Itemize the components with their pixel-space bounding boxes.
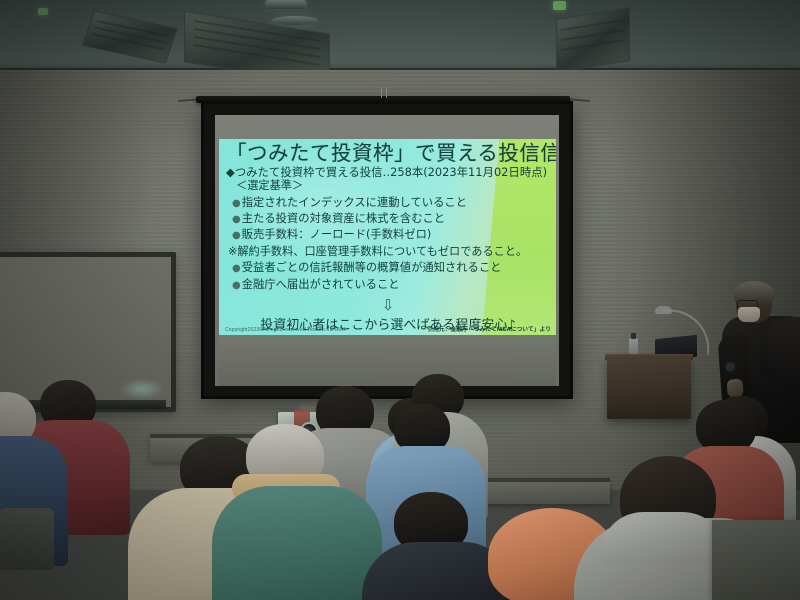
screen-unlit-area — [219, 335, 556, 386]
citation-source: 引用元：金融庁「つみたてNISAについて」より — [427, 324, 551, 333]
criteria-text: 主たる投資の対象資産に株式を含むこと — [242, 212, 445, 225]
bullet-icon: ● — [232, 263, 241, 274]
recessed-light — [272, 16, 318, 25]
lecture-room-photo: 「つみたて投資枠」で買える投信信託 ◆つみたて投資枠で買える投信‥258本(20… — [0, 0, 800, 600]
gooseneck-lamp-head — [655, 306, 672, 314]
hood — [600, 512, 726, 564]
bullet-icon: ● — [232, 198, 241, 209]
slide-lead-line: ◆つみたて投資枠で買える投信‥258本(2023年11月02日時点) — [226, 166, 550, 179]
screen-surface: 「つみたて投資枠」で買える投信信託 ◆つみたて投資枠で買える投信‥258本(20… — [215, 115, 559, 386]
criteria-text: 販売手数料：ノーロード(手数料ゼロ) — [242, 228, 432, 241]
desk-row — [712, 520, 800, 600]
ceiling-speaker — [265, 0, 307, 9]
slide-title: 「つみたて投資枠」で買える投信信託 — [226, 142, 550, 165]
lectern — [607, 357, 691, 419]
indicator-light — [553, 1, 566, 10]
slide-note: ※解約手数料、口座管理手数料についてもゼロであること。 — [228, 244, 550, 260]
down-arrow-icon: ⇩ — [226, 298, 550, 313]
list-item: ●受益者ごとの信託報酬等の概算値が通知されること — [232, 260, 550, 276]
slide-footer: Copyright2023©All rights reserved Tetsur… — [225, 324, 551, 333]
slide-subheading: ＜選定基準＞ — [236, 179, 550, 194]
criteria-text: 受益者ごとの信託報酬等の概算値が通知されること — [242, 261, 502, 274]
criteria-text: 金融庁へ届出がされていること — [242, 278, 400, 291]
whiteboard-glare — [119, 379, 165, 399]
criteria-text: 指定されたインデックスに連動していること — [242, 196, 467, 209]
projection-screen: 「つみたて投資枠」で買える投信信託 ◆つみたて投資枠で買える投信‥258本(20… — [201, 101, 573, 399]
list-item: ●主たる投資の対象資産に株式を含むこと — [232, 211, 550, 227]
bullet-icon: ● — [232, 230, 241, 241]
bullet-icon: ● — [232, 214, 241, 225]
copyright-notice: Copyright2023©All rights reserved Tetsur… — [225, 327, 345, 333]
torso — [212, 486, 382, 600]
projected-slide: 「つみたて投資枠」で買える投信信託 ◆つみたて投資枠で買える投信‥258本(20… — [219, 139, 556, 335]
list-item: ●指定されたインデックスに連動していること — [232, 195, 550, 211]
chair — [0, 508, 54, 570]
list-item: ●販売手数料：ノーロード(手数料ゼロ) — [232, 227, 550, 243]
criteria-list: ●指定されたインデックスに連動していること ●主たる投資の対象資産に株式を含むこ… — [232, 195, 550, 244]
indicator-light — [38, 8, 48, 15]
bullet-icon: ● — [232, 280, 241, 291]
criteria-list-continued: ●受益者ごとの信託報酬等の概算値が通知されること ●金融庁へ届出がされていること — [232, 260, 550, 292]
list-item: ●金融庁へ届出がされていること — [232, 277, 550, 293]
face-mask — [738, 307, 760, 322]
presenter-hand — [727, 378, 744, 397]
